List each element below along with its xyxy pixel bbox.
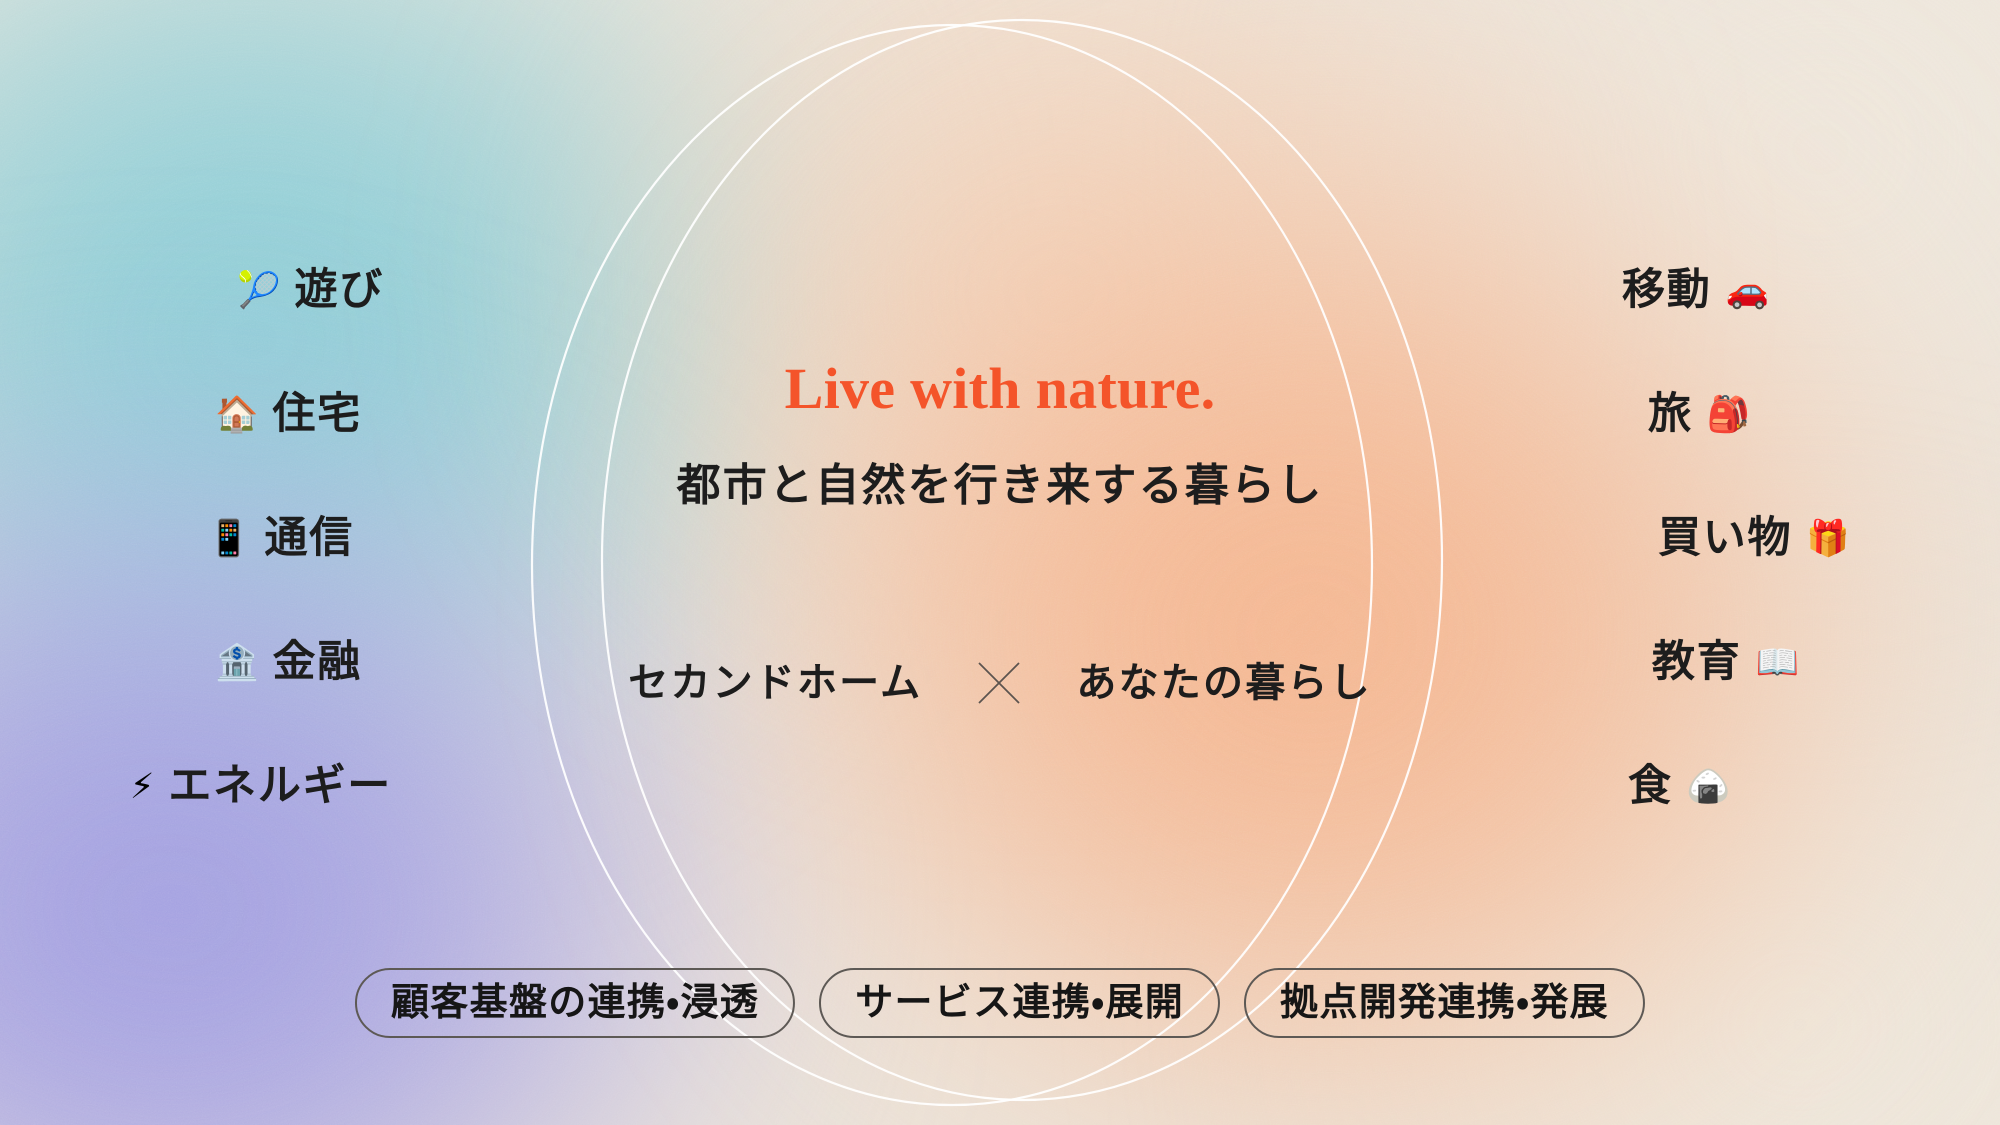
right-item-shopping[interactable]: 買い物 🎁	[1480, 510, 1850, 566]
right-item-label: 教育	[1652, 641, 1741, 684]
left-item-energy[interactable]: ⚡ エネルギー	[130, 758, 540, 814]
right-item-food[interactable]: 食 🍙	[1480, 758, 1730, 814]
mobile-phone-icon: 📱	[207, 521, 251, 556]
open-book-icon: 📖	[1755, 645, 1799, 680]
pill-label: 拠点開発連携・発展	[1280, 984, 1609, 1022]
pill-customer-base[interactable]: 顧客基盤の連携・浸透	[355, 968, 795, 1038]
backpack-icon: 🎒	[1707, 397, 1751, 432]
rice-ball-icon: 🍙	[1687, 769, 1731, 804]
gift-icon: 🎁	[1806, 521, 1850, 556]
car-icon: 🚗	[1725, 273, 1769, 308]
right-item-label: 買い物	[1658, 517, 1792, 560]
left-item-label: エネルギー	[168, 765, 392, 808]
ring-right	[602, 20, 1442, 1100]
pill-label: 顧客基盤の連携・浸透	[391, 984, 759, 1022]
left-item-play[interactable]: 🎾 遊び	[237, 262, 540, 318]
cross-icon	[976, 660, 1022, 706]
left-item-housing[interactable]: 🏠 住宅	[215, 386, 540, 442]
right-service-column: 移動 🚗 旅 🎒 買い物 🎁 教育 📖 食 🍙	[1480, 262, 2000, 882]
headline: Live with nature.	[500, 360, 1500, 418]
right-item-label: 旅	[1648, 393, 1693, 436]
cross-term-left: セカンドホーム	[628, 663, 922, 703]
bottom-pill-row: 顧客基盤の連携・浸透 サービス連携・展開 拠点開発連携・発展	[355, 968, 1645, 1038]
left-item-label: 通信	[265, 517, 354, 560]
center-headline-block: Live with nature. 都市と自然を行き来する暮らし	[500, 360, 1500, 508]
right-item-mobility[interactable]: 移動 🚗	[1480, 262, 1769, 318]
left-service-column: 🎾 遊び 🏠 住宅 📱 通信 🏦 金融 ⚡ エネルギー	[0, 262, 540, 882]
lightning-bolt-icon: ⚡	[130, 769, 155, 804]
cross-term-right: あなたの暮らし	[1076, 663, 1371, 703]
pill-label: サービス連携・展開	[855, 984, 1184, 1022]
subheadline: 都市と自然を行き来する暮らし	[500, 464, 1500, 508]
ring-left	[532, 25, 1372, 1105]
pill-service-expansion[interactable]: サービス連携・展開	[819, 968, 1220, 1038]
pill-base-development[interactable]: 拠点開発連携・発展	[1244, 968, 1645, 1038]
house-icon: 🏠	[215, 397, 259, 432]
peach-gradient-blob-upper	[560, 0, 1560, 660]
slide-canvas: 🎾 遊び 🏠 住宅 📱 通信 🏦 金融 ⚡ エネルギー 移動 🚗 旅 🎒	[0, 0, 2000, 1125]
bank-icon: 🏦	[215, 645, 259, 680]
concept-cross-row: セカンドホーム あなたの暮らし	[450, 660, 1550, 706]
left-item-label: 金融	[273, 641, 362, 684]
right-item-label: 食	[1628, 765, 1673, 808]
left-item-label: 住宅	[273, 393, 362, 436]
right-item-travel[interactable]: 旅 🎒	[1480, 386, 1750, 442]
left-item-label: 遊び	[295, 269, 384, 312]
left-item-communication[interactable]: 📱 通信	[207, 510, 540, 566]
right-item-label: 移動	[1622, 269, 1711, 312]
tennis-racket-icon: 🎾	[237, 273, 281, 308]
